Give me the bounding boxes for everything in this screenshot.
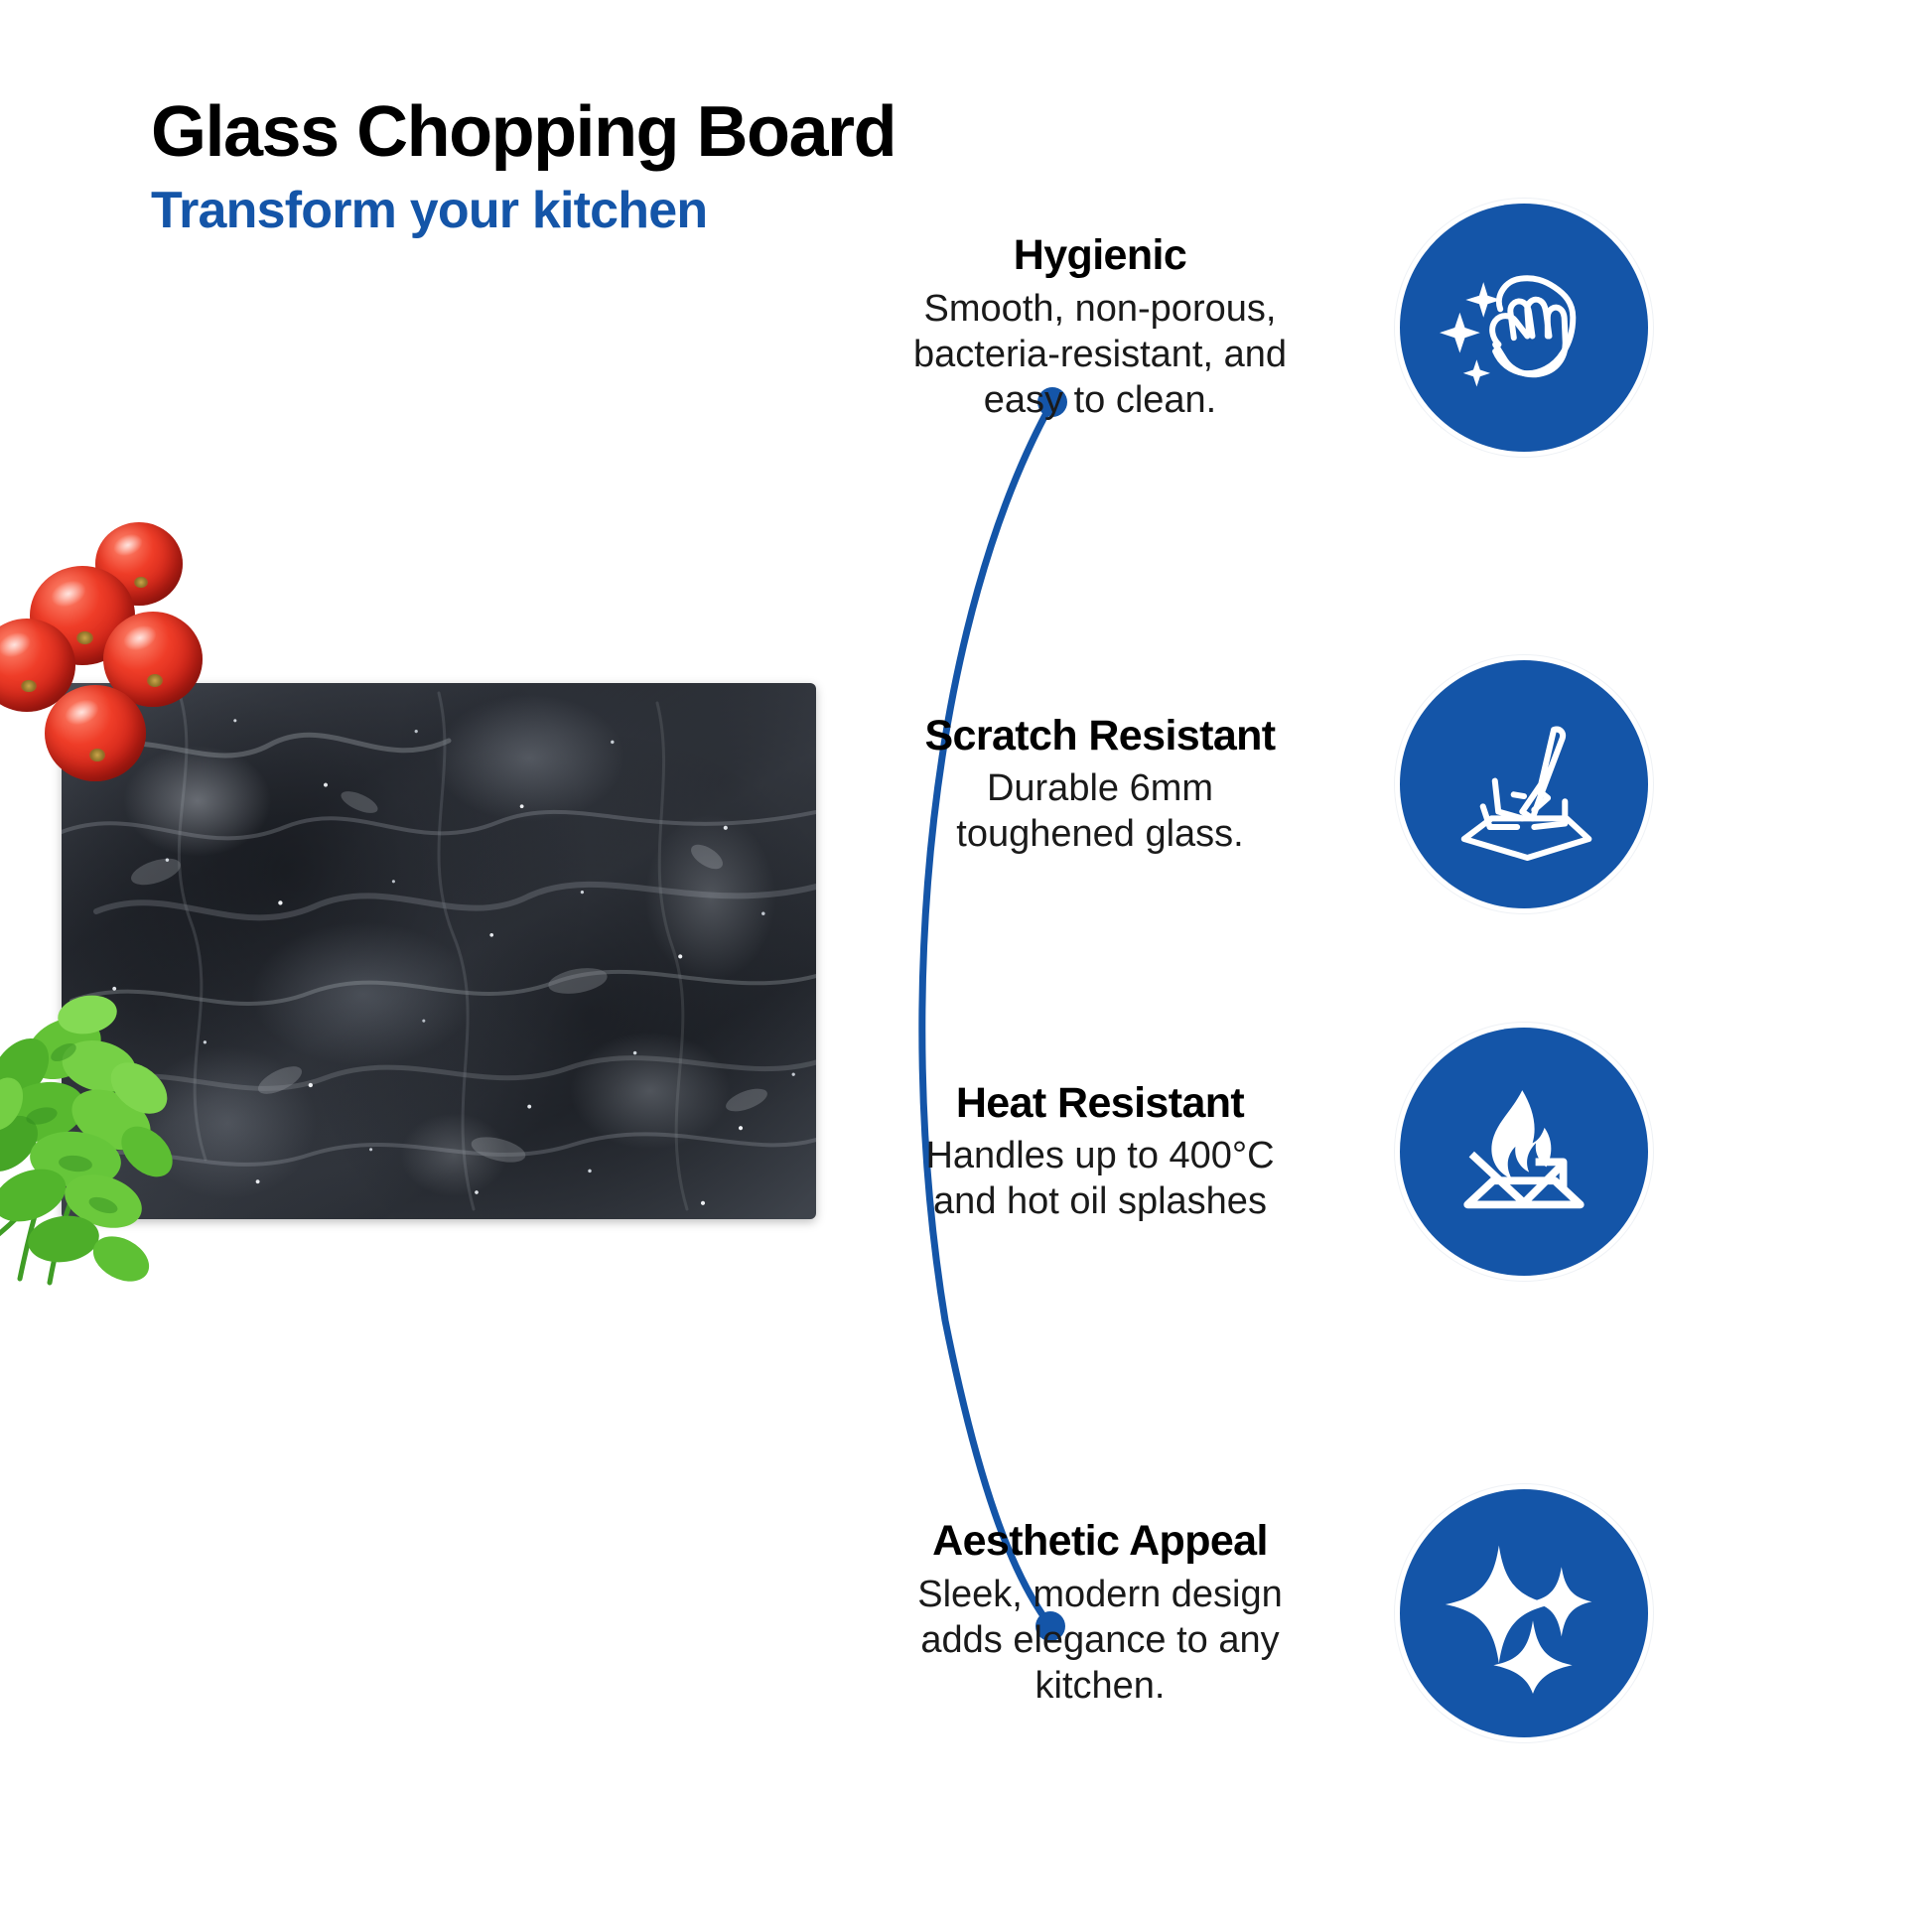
feature-description: Smooth, non-porous, bacteria-resistant, … <box>834 286 1366 424</box>
feature-description-line: Smooth, non-porous, <box>834 286 1366 332</box>
connector-curve <box>922 402 1052 1626</box>
sparkles-icon <box>1400 1489 1648 1737</box>
feature-description: Handles up to 400°C and hot oil splashes <box>834 1133 1366 1225</box>
parsley-svg <box>0 993 201 1291</box>
feature-aesthetic-appeal: Aesthetic Appeal Sleek, modern design ad… <box>834 1489 1648 1737</box>
page-title: Glass Chopping Board <box>151 95 896 171</box>
feature-description-line: and hot oil splashes <box>834 1178 1366 1224</box>
feature-description-line: kitchen. <box>834 1663 1366 1709</box>
header: Glass Chopping Board Transform your kitc… <box>151 95 896 239</box>
parsley-sprig <box>0 993 201 1291</box>
sparkles-glyph <box>1435 1524 1613 1703</box>
feature-description-line: toughened glass. <box>834 811 1366 857</box>
feature-scratch-resistant: Scratch Resistant Durable 6mm toughened … <box>834 660 1648 908</box>
feature-title: Aesthetic Appeal <box>834 1517 1366 1565</box>
feature-description-line: Durable 6mm <box>834 765 1366 811</box>
feature-description-line: bacteria-resistant, and <box>834 332 1366 377</box>
hand-wiping-sparkle-icon <box>1400 204 1648 452</box>
hand-wiping-sparkle-glyph <box>1440 243 1608 412</box>
feature-description: Durable 6mm toughened glass. <box>834 765 1366 858</box>
feature-description-line: Handles up to 400°C <box>834 1133 1366 1178</box>
feature-title: Heat Resistant <box>834 1079 1366 1127</box>
cherry-tomato <box>45 685 146 781</box>
product-photo <box>0 596 854 1291</box>
knife-impact-glyph <box>1439 699 1609 870</box>
feature-hygienic: Hygienic Smooth, non-porous, bacteria-re… <box>834 204 1648 452</box>
flame-deflect-icon <box>1400 1028 1648 1276</box>
feature-text-block: Scratch Resistant Durable 6mm toughened … <box>834 712 1400 858</box>
flame-deflect-glyph <box>1439 1066 1609 1237</box>
feature-description-line: adds elegance to any <box>834 1617 1366 1663</box>
feature-title: Scratch Resistant <box>834 712 1366 759</box>
feature-title: Hygienic <box>834 231 1366 279</box>
feature-heat-resistant: Heat Resistant Handles up to 400°C and h… <box>834 1028 1648 1276</box>
feature-text-block: Aesthetic Appeal Sleek, modern design ad… <box>834 1517 1400 1709</box>
feature-text-block: Hygienic Smooth, non-porous, bacteria-re… <box>834 231 1400 423</box>
infographic-canvas: Glass Chopping Board Transform your kitc… <box>0 0 1932 1932</box>
feature-description-line: Sleek, modern design <box>834 1572 1366 1617</box>
page-subtitle: Transform your kitchen <box>151 183 896 239</box>
feature-text-block: Heat Resistant Handles up to 400°C and h… <box>834 1079 1400 1225</box>
knife-impact-icon <box>1400 660 1648 908</box>
feature-description-line: easy to clean. <box>834 377 1366 423</box>
feature-description: Sleek, modern design adds elegance to an… <box>834 1572 1366 1710</box>
